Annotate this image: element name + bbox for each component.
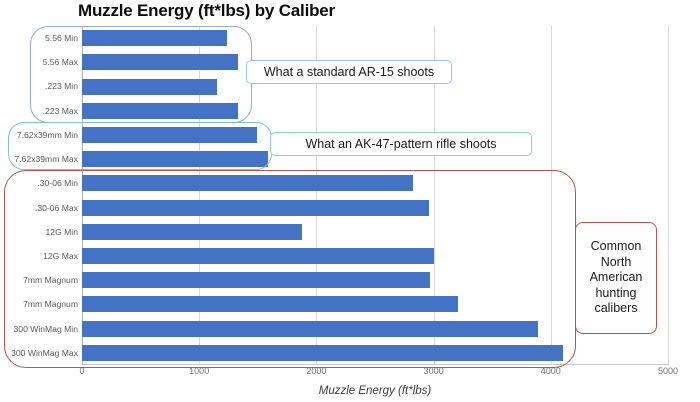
callout-hunting-line: calibers — [594, 301, 637, 317]
y-axis-label: 5.56 Max — [2, 50, 78, 74]
bar — [82, 200, 429, 216]
bar — [82, 103, 238, 119]
x-axis-tick-label: 4000 — [541, 366, 561, 376]
callout-hunting-line: American — [590, 270, 643, 286]
y-axis-label: 7mm Magnum — [2, 292, 78, 316]
bar-row — [82, 26, 668, 50]
bar-row — [82, 196, 668, 220]
bar — [82, 345, 563, 361]
bar — [82, 224, 302, 240]
callout-ar15-text: What a standard AR-15 shoots — [264, 65, 434, 79]
chart-title: Muzzle Energy (ft*lbs) by Caliber — [78, 1, 335, 21]
x-axis-tick-label: 1000 — [189, 366, 209, 376]
bar-row — [82, 99, 668, 123]
bar — [82, 30, 227, 46]
y-axis-label: 300 WinMag Max — [2, 341, 78, 365]
y-axis-label: .223 Max — [2, 99, 78, 123]
bar — [82, 248, 434, 264]
y-axis-label: 300 WinMag Min — [2, 317, 78, 341]
bar — [82, 127, 257, 143]
bar — [82, 272, 430, 288]
bar — [82, 321, 538, 337]
bar-row — [82, 171, 668, 195]
x-axis-tick-labels: 010002000300040005000 — [0, 366, 700, 382]
chart-canvas: Muzzle Energy (ft*lbs) by Caliber 5.56 M… — [0, 0, 700, 402]
y-axis-label: 7mm Magnum — [2, 268, 78, 292]
callout-ak47-text: What an AK-47-pattern rifle shoots — [305, 137, 496, 151]
y-axis-label: 5.56 Min — [2, 26, 78, 50]
y-axis-label: 7.62x39mm Max — [2, 147, 78, 171]
y-axis-label: 7.62x39mm Min — [2, 123, 78, 147]
y-axis-label: .30-06 Max — [2, 196, 78, 220]
x-axis-title: Muzzle Energy (ft*lbs) — [319, 385, 431, 397]
x-axis-tick-label: 0 — [79, 366, 84, 376]
bar — [82, 79, 217, 95]
bar — [82, 175, 413, 191]
gridline-5000 — [668, 26, 669, 365]
callout-ar15: What a standard AR-15 shoots — [246, 60, 452, 84]
callout-hunting-line: Common — [591, 239, 642, 255]
y-axis-label: 12G Max — [2, 244, 78, 268]
x-axis-tick-label: 2000 — [306, 366, 326, 376]
x-axis-title-wrap: Muzzle Energy (ft*lbs) — [82, 381, 668, 399]
x-axis-tick-label: 5000 — [658, 366, 678, 376]
bar — [82, 151, 268, 167]
y-axis-label: .223 Min — [2, 74, 78, 98]
bar — [82, 54, 238, 70]
y-axis-label: .30-06 Min — [2, 171, 78, 195]
x-axis-tick-label: 3000 — [424, 366, 444, 376]
y-axis-labels: 5.56 Min5.56 Max.223 Min.223 Max7.62x39m… — [0, 26, 78, 365]
callout-hunting: CommonNorthAmericanhuntingcalibers — [575, 222, 657, 334]
bar-row — [82, 341, 668, 365]
y-axis-label: 12G Min — [2, 220, 78, 244]
callout-hunting-line: hunting — [595, 286, 636, 302]
bar — [82, 296, 458, 312]
callout-hunting-line: North — [601, 255, 632, 271]
callout-ak47: What an AK-47-pattern rifle shoots — [270, 132, 532, 156]
